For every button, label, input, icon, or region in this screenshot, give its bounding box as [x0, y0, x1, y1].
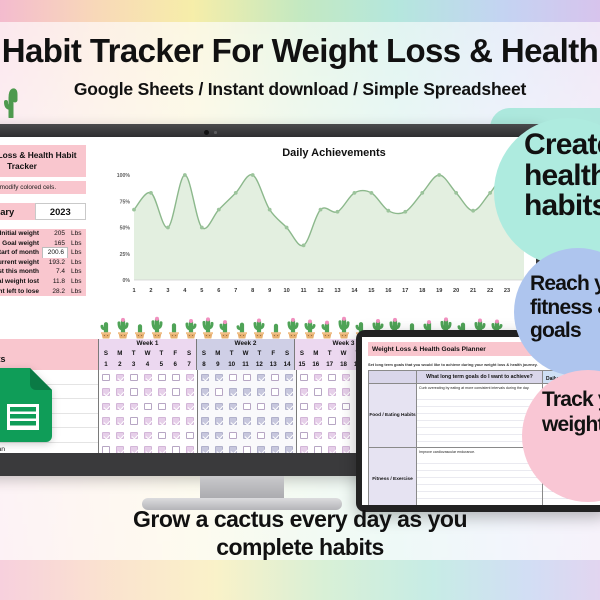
- habit-checkbox[interactable]: [243, 417, 251, 425]
- chart-plot: 0%25%50%75%100%1234567891011121314151617…: [98, 169, 530, 304]
- habit-checkbox[interactable]: [186, 403, 194, 411]
- habit-checkbox[interactable]: [271, 374, 279, 382]
- habit-checkbox[interactable]: [215, 374, 223, 382]
- habit-checkbox[interactable]: [342, 417, 350, 425]
- month-cell[interactable]: January: [0, 203, 35, 220]
- habit-cell[interactable]: [141, 399, 155, 414]
- habit-checkbox[interactable]: [243, 388, 251, 396]
- habit-cell[interactable]: [198, 370, 212, 385]
- month-year-row: January 2023: [0, 203, 86, 220]
- habit-checkbox[interactable]: [271, 446, 279, 453]
- stat-row: Weight at start of month200.6Lbs: [0, 248, 86, 258]
- habit-checkbox[interactable]: [271, 403, 279, 411]
- habit-checkbox[interactable]: [229, 446, 237, 453]
- habit-checkbox[interactable]: [172, 432, 180, 440]
- chart-x-tick: 23: [504, 288, 510, 294]
- chart-data-point: [319, 208, 323, 212]
- habit-cell[interactable]: [325, 428, 339, 443]
- chart-data-point: [437, 173, 441, 177]
- habit-checkbox[interactable]: [314, 417, 322, 425]
- day-number: 10: [225, 359, 239, 370]
- day-number: 16: [309, 359, 323, 370]
- habit-checkbox[interactable]: [158, 374, 166, 382]
- webcam-icon: [204, 130, 209, 135]
- week-label: Week 1: [99, 339, 196, 349]
- stat-row: Current weight193.2Lbs: [0, 258, 86, 268]
- habit-cell[interactable]: [297, 443, 311, 454]
- habit-cell[interactable]: [127, 385, 141, 400]
- chart-x-tick: 4: [183, 288, 187, 294]
- habit-cell[interactable]: [254, 443, 268, 454]
- habit-cell[interactable]: [141, 443, 155, 454]
- bubble-text-track-weight: Track your weight: [542, 388, 600, 438]
- habit-checkbox[interactable]: [257, 417, 265, 425]
- habit-checkbox[interactable]: [342, 374, 350, 382]
- habit-cell[interactable]: [169, 414, 183, 429]
- habit-checkbox[interactable]: [271, 388, 279, 396]
- cactus-icon: [200, 313, 216, 339]
- planner-section-goal-cell[interactable]: Improve cardiovascular endurance.: [417, 448, 543, 505]
- day-number: 9: [211, 359, 225, 370]
- habit-checkbox[interactable]: [243, 432, 251, 440]
- day-number: 5: [154, 359, 168, 370]
- habit-checkbox[interactable]: [158, 446, 166, 453]
- habit-checkbox[interactable]: [342, 446, 350, 453]
- day-number: 2: [113, 359, 127, 370]
- habit-checkbox[interactable]: [158, 432, 166, 440]
- habit-checkbox[interactable]: [172, 374, 180, 382]
- habit-checkbox[interactable]: [285, 388, 293, 396]
- cactus-icon: [319, 313, 335, 339]
- habit-cell[interactable]: [183, 443, 197, 454]
- habit-checkbox[interactable]: [172, 403, 180, 411]
- habit-checkbox[interactable]: [300, 403, 308, 411]
- habit-cell[interactable]: [183, 385, 197, 400]
- habit-cell[interactable]: [268, 443, 282, 454]
- habit-cell[interactable]: [325, 443, 339, 454]
- habit-checkbox[interactable]: [215, 446, 223, 453]
- habit-checkbox[interactable]: [186, 446, 194, 453]
- habit-checkbox[interactable]: [300, 446, 308, 453]
- habit-checkbox[interactable]: [257, 403, 265, 411]
- habit-checkbox[interactable]: [257, 446, 265, 453]
- day-letter: F: [266, 349, 280, 359]
- habit-cell[interactable]: [141, 414, 155, 429]
- habit-checkbox[interactable]: [130, 374, 138, 382]
- habit-checkbox[interactable]: [300, 374, 308, 382]
- habit-cell[interactable]: [282, 385, 296, 400]
- habit-checkbox[interactable]: [215, 417, 223, 425]
- bubble-text-reach-goals: Reach your fitness & diet goals: [530, 272, 600, 343]
- habit-checkbox[interactable]: [201, 432, 209, 440]
- day-number: 18: [337, 359, 351, 370]
- day-number: 12: [252, 359, 266, 370]
- week-header-1: Week 1SMTWTFS1234567: [98, 339, 196, 370]
- habit-cell[interactable]: [311, 385, 325, 400]
- habit-cell[interactable]: [212, 428, 226, 443]
- habit-checkbox[interactable]: [158, 388, 166, 396]
- habit-cell[interactable]: [183, 370, 197, 385]
- habit-cell[interactable]: [169, 370, 183, 385]
- habit-checkbox[interactable]: [116, 417, 124, 425]
- habit-checkbox[interactable]: [243, 446, 251, 453]
- habit-cell[interactable]: [226, 428, 240, 443]
- habit-checkbox[interactable]: [144, 417, 152, 425]
- habit-checkbox[interactable]: [328, 403, 336, 411]
- stat-value[interactable]: 205: [42, 229, 68, 239]
- habit-cell[interactable]: [282, 399, 296, 414]
- chart-x-tick: 22: [487, 288, 493, 294]
- habit-checkbox[interactable]: [257, 388, 265, 396]
- habit-checkbox[interactable]: [328, 446, 336, 453]
- week-checkbox-group: [98, 428, 197, 443]
- planner-title: Weight Loss & Health Goals Planner: [368, 342, 540, 356]
- habit-cell[interactable]: [141, 428, 155, 443]
- day-letter: T: [154, 349, 168, 359]
- habit-cell[interactable]: [183, 414, 197, 429]
- week-checkbox-group: [197, 443, 296, 454]
- habit-cell[interactable]: [282, 443, 296, 454]
- habit-cell[interactable]: [212, 399, 226, 414]
- stat-row: Weight left to lose28.2Lbs: [0, 287, 86, 297]
- habit-checkbox[interactable]: [342, 388, 350, 396]
- habit-cell[interactable]: [127, 443, 141, 454]
- habit-checkbox[interactable]: [102, 417, 110, 425]
- habit-cell[interactable]: [226, 399, 240, 414]
- habit-checkbox[interactable]: [229, 432, 237, 440]
- habit-checkbox[interactable]: [102, 388, 110, 396]
- habit-checkbox[interactable]: [186, 432, 194, 440]
- week-day-letters: SMTWTFS: [99, 349, 196, 359]
- habit-cell[interactable]: [113, 428, 127, 443]
- week-checkbox-group: [197, 414, 296, 429]
- habit-checkbox[interactable]: [186, 388, 194, 396]
- habit-checkbox[interactable]: [342, 403, 350, 411]
- habit-checkbox[interactable]: [102, 432, 110, 440]
- habit-checkbox[interactable]: [328, 374, 336, 382]
- habit-cell[interactable]: [240, 370, 254, 385]
- habit-cell[interactable]: [325, 385, 339, 400]
- habit-cell[interactable]: [297, 428, 311, 443]
- week-checkbox-group: [197, 370, 296, 385]
- habit-cell[interactable]: [282, 414, 296, 429]
- habit-cell[interactable]: [339, 428, 353, 443]
- habit-checkbox[interactable]: [158, 417, 166, 425]
- weight-stats-table: Initial weight205LbsGoal weight165LbsWei…: [0, 229, 86, 296]
- habit-cell[interactable]: [212, 370, 226, 385]
- habit-cell[interactable]: [297, 399, 311, 414]
- cactus-icon: [132, 313, 148, 339]
- habit-checkbox[interactable]: [186, 417, 194, 425]
- habit-checkbox[interactable]: [172, 417, 180, 425]
- habit-cell[interactable]: [254, 399, 268, 414]
- habit-cell[interactable]: [297, 385, 311, 400]
- habit-cell[interactable]: [339, 370, 353, 385]
- habit-checkbox[interactable]: [116, 446, 124, 453]
- cactus-icon: [234, 313, 250, 339]
- habit-cell[interactable]: [226, 414, 240, 429]
- cactus-icon: [285, 313, 301, 339]
- habit-cell[interactable]: [325, 370, 339, 385]
- habit-label[interactable]: Follow meal plan: [0, 443, 98, 454]
- stat-value[interactable]: 193.2: [42, 258, 68, 268]
- habit-cell[interactable]: [99, 385, 113, 400]
- habit-checkbox[interactable]: [172, 446, 180, 453]
- habit-checkbox[interactable]: [130, 388, 138, 396]
- habit-cell[interactable]: [198, 399, 212, 414]
- habit-checkbox[interactable]: [257, 374, 265, 382]
- habit-checkbox[interactable]: [314, 374, 322, 382]
- habit-checkbox[interactable]: [285, 403, 293, 411]
- habit-cell[interactable]: [99, 399, 113, 414]
- stat-value[interactable]: 28.2: [42, 287, 68, 297]
- habit-cell[interactable]: [113, 414, 127, 429]
- habit-cell[interactable]: [339, 443, 353, 454]
- habit-cell[interactable]: [268, 428, 282, 443]
- habit-checkbox[interactable]: [201, 403, 209, 411]
- day-letter: W: [141, 349, 155, 359]
- habit-checkbox[interactable]: [201, 417, 209, 425]
- chart-x-tick: 14: [351, 288, 358, 294]
- chart-data-point: [403, 210, 407, 214]
- habit-cell[interactable]: [198, 385, 212, 400]
- habit-cell[interactable]: [169, 399, 183, 414]
- habit-checkbox[interactable]: [201, 374, 209, 382]
- habit-checkbox[interactable]: [342, 432, 350, 440]
- habit-checkbox[interactable]: [271, 432, 279, 440]
- stat-row: Total weight lost11.8Lbs: [0, 277, 86, 287]
- habit-cell[interactable]: [155, 385, 169, 400]
- habit-cell[interactable]: [99, 370, 113, 385]
- habit-checkbox[interactable]: [102, 446, 110, 453]
- habit-cell[interactable]: [254, 414, 268, 429]
- week-checkbox-group: [197, 385, 296, 400]
- habit-cell[interactable]: [240, 385, 254, 400]
- habit-checkbox[interactable]: [285, 417, 293, 425]
- habit-cell[interactable]: [311, 443, 325, 454]
- stat-value[interactable]: 11.8: [42, 277, 68, 287]
- habit-checkbox[interactable]: [229, 374, 237, 382]
- chart-x-tick: 13: [334, 288, 340, 294]
- habit-checkbox[interactable]: [314, 432, 322, 440]
- habit-cell[interactable]: [99, 428, 113, 443]
- habit-cell[interactable]: [127, 399, 141, 414]
- chart-x-tick: 9: [268, 288, 271, 294]
- habit-cell[interactable]: [311, 428, 325, 443]
- habit-cell[interactable]: [240, 428, 254, 443]
- habit-checkbox[interactable]: [144, 374, 152, 382]
- habit-checkbox[interactable]: [271, 417, 279, 425]
- habit-checkbox[interactable]: [257, 432, 265, 440]
- habit-cell[interactable]: [113, 385, 127, 400]
- spreadsheet-title: Weight Loss & Health Habit Tracker: [0, 145, 86, 177]
- habit-checkbox[interactable]: [314, 446, 322, 453]
- habit-cell[interactable]: [113, 370, 127, 385]
- habit-cell[interactable]: [169, 443, 183, 454]
- year-cell[interactable]: 2023: [35, 203, 86, 220]
- chart-y-tick: 0%: [123, 278, 131, 284]
- habit-cell[interactable]: [282, 370, 296, 385]
- habit-cell[interactable]: [198, 414, 212, 429]
- habit-checkbox[interactable]: [116, 388, 124, 396]
- habit-checkbox[interactable]: [201, 446, 209, 453]
- habit-cell[interactable]: [325, 414, 339, 429]
- habit-cell[interactable]: [254, 385, 268, 400]
- chart-data-point: [488, 191, 492, 195]
- habit-checkbox[interactable]: [285, 446, 293, 453]
- habit-checkbox[interactable]: [314, 403, 322, 411]
- habit-cell[interactable]: [254, 428, 268, 443]
- habit-checkbox[interactable]: [215, 403, 223, 411]
- habit-cell[interactable]: [113, 443, 127, 454]
- chart-data-point: [183, 173, 187, 177]
- day-number: 3: [127, 359, 141, 370]
- habit-cell[interactable]: [183, 428, 197, 443]
- habit-checkbox[interactable]: [229, 403, 237, 411]
- bottom-caption: Grow a cactus every day as you complete …: [0, 505, 600, 561]
- stat-row: Weight lost this month7.4Lbs: [0, 267, 86, 277]
- habit-checkbox[interactable]: [102, 403, 110, 411]
- header: Habit Tracker For Weight Loss & Health G…: [0, 0, 600, 100]
- habit-cell[interactable]: [198, 428, 212, 443]
- habit-checkbox[interactable]: [172, 388, 180, 396]
- habit-checkbox[interactable]: [144, 388, 152, 396]
- habit-checkbox[interactable]: [215, 388, 223, 396]
- day-letter: F: [168, 349, 182, 359]
- habit-cell[interactable]: [240, 399, 254, 414]
- habit-checkbox[interactable]: [144, 432, 152, 440]
- habit-checkbox[interactable]: [328, 388, 336, 396]
- planner-goal-column-header: What long term goals do I want to achiev…: [417, 371, 543, 383]
- habit-cell[interactable]: [325, 399, 339, 414]
- habit-cell[interactable]: [226, 370, 240, 385]
- day-letter: S: [197, 349, 211, 359]
- habit-checkbox[interactable]: [201, 388, 209, 396]
- habit-checkbox[interactable]: [116, 374, 124, 382]
- week-day-letters: SMTWTFS: [197, 349, 294, 359]
- habit-checkbox[interactable]: [116, 403, 124, 411]
- stat-unit: Lbs: [68, 267, 86, 277]
- habit-cell[interactable]: [99, 414, 113, 429]
- habit-cell[interactable]: [127, 428, 141, 443]
- habit-cell[interactable]: [155, 399, 169, 414]
- day-letter: S: [295, 349, 309, 359]
- habit-checkbox[interactable]: [130, 403, 138, 411]
- planner-subtitle: Set long term goals that you would like …: [368, 362, 538, 367]
- habit-cell[interactable]: [155, 370, 169, 385]
- stat-value[interactable]: 7.4: [42, 267, 68, 277]
- day-letter: T: [252, 349, 266, 359]
- habit-cell[interactable]: [339, 399, 353, 414]
- habit-checkbox[interactable]: [285, 374, 293, 382]
- habit-checkbox[interactable]: [300, 417, 308, 425]
- planner-corner-cell: [369, 371, 417, 383]
- habit-cell[interactable]: [169, 428, 183, 443]
- habit-cell[interactable]: [240, 443, 254, 454]
- habit-cell[interactable]: [212, 414, 226, 429]
- habit-checkbox[interactable]: [300, 388, 308, 396]
- habit-cell[interactable]: [212, 385, 226, 400]
- habit-cell[interactable]: [127, 370, 141, 385]
- habit-cell[interactable]: [268, 414, 282, 429]
- habit-cell[interactable]: [297, 414, 311, 429]
- stat-label: Goal weight: [0, 239, 42, 249]
- habit-cell[interactable]: [155, 428, 169, 443]
- habit-cell[interactable]: [268, 385, 282, 400]
- habit-cell[interactable]: [198, 443, 212, 454]
- habit-cell[interactable]: [169, 385, 183, 400]
- habit-checkbox[interactable]: [285, 432, 293, 440]
- habit-cell[interactable]: [226, 385, 240, 400]
- habit-checkbox[interactable]: [130, 446, 138, 453]
- habit-cell[interactable]: [183, 399, 197, 414]
- habit-checkbox[interactable]: [328, 432, 336, 440]
- habit-cell[interactable]: [268, 399, 282, 414]
- habit-cell[interactable]: [254, 370, 268, 385]
- planner-section-label: Food / Eating Habits: [369, 384, 417, 447]
- habit-checkbox[interactable]: [186, 374, 194, 382]
- habit-cell[interactable]: [99, 443, 113, 454]
- habit-cell[interactable]: [141, 385, 155, 400]
- habit-cell[interactable]: [311, 370, 325, 385]
- habit-checkbox[interactable]: [243, 374, 251, 382]
- chart-x-tick: 2: [149, 288, 152, 294]
- habit-cell[interactable]: [113, 399, 127, 414]
- habit-checkbox[interactable]: [229, 388, 237, 396]
- habit-cell[interactable]: [155, 414, 169, 429]
- chart-x-tick: 11: [301, 288, 307, 294]
- habit-checkbox[interactable]: [158, 403, 166, 411]
- habit-checkbox[interactable]: [215, 432, 223, 440]
- habit-checkbox[interactable]: [300, 432, 308, 440]
- habit-checkbox[interactable]: [229, 417, 237, 425]
- habit-checkbox[interactable]: [144, 446, 152, 453]
- day-letter: S: [99, 349, 113, 359]
- habit-checkbox[interactable]: [130, 432, 138, 440]
- chart-data-point: [369, 191, 373, 195]
- habit-checkbox[interactable]: [328, 417, 336, 425]
- habit-cell[interactable]: [297, 370, 311, 385]
- habit-checkbox[interactable]: [102, 374, 110, 382]
- habit-cell[interactable]: [155, 443, 169, 454]
- day-number: 4: [141, 359, 155, 370]
- habit-cell[interactable]: [339, 385, 353, 400]
- habit-checkbox[interactable]: [144, 403, 152, 411]
- habit-cell[interactable]: [212, 443, 226, 454]
- chart-data-point: [353, 191, 357, 195]
- habit-cell[interactable]: [339, 414, 353, 429]
- habit-checkbox[interactable]: [130, 417, 138, 425]
- cactus-icon: [2, 88, 20, 118]
- habit-cell[interactable]: [282, 428, 296, 443]
- habit-checkbox[interactable]: [243, 403, 251, 411]
- habit-cell[interactable]: [226, 443, 240, 454]
- habit-cell[interactable]: [311, 414, 325, 429]
- habit-cell[interactable]: [127, 414, 141, 429]
- habit-cell[interactable]: [268, 370, 282, 385]
- chart-x-tick: 19: [436, 288, 442, 294]
- habit-checkbox[interactable]: [314, 388, 322, 396]
- habit-cell[interactable]: [141, 370, 155, 385]
- week-checkbox-group: [98, 399, 197, 414]
- day-number: 6: [168, 359, 182, 370]
- chart-x-tick: 10: [283, 288, 289, 294]
- habit-cell[interactable]: [311, 399, 325, 414]
- chart-x-tick: 20: [453, 288, 459, 294]
- chart-y-tick: 50%: [120, 226, 131, 232]
- habit-cell[interactable]: [240, 414, 254, 429]
- habit-checkbox[interactable]: [116, 432, 124, 440]
